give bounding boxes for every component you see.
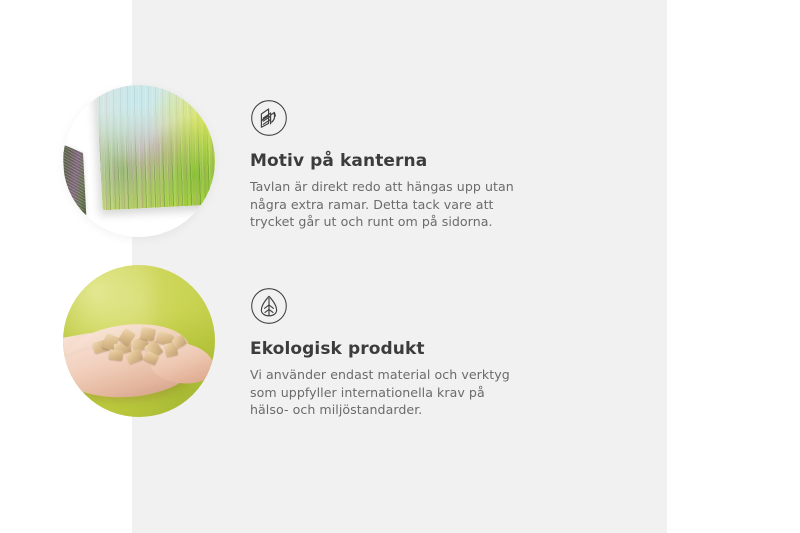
wood-chips: [89, 325, 189, 369]
hands-image: [63, 323, 215, 401]
canvas-edge-texture: [63, 144, 86, 215]
feature-description: Tavlan är direkt redo att hängas upp uta…: [250, 178, 518, 230]
canvas-print-corner-photo: [63, 85, 215, 237]
canvas-edge-print-icon: [250, 99, 288, 137]
feature-text-block: Ekologisk produkt Vi använder endast mat…: [250, 265, 518, 419]
photo-circle-backdrop: [63, 265, 215, 417]
promo-banner: Motiv på kanterna Tavlan är direkt redo …: [0, 0, 800, 533]
canvas-artwork-drips: [99, 125, 215, 211]
feature-text-block: Motiv på kanterna Tavlan är direkt redo …: [250, 85, 518, 231]
hands-holding-wood-chips-photo: [63, 265, 215, 417]
feature-title: Ekologisk produkt: [250, 339, 518, 359]
canvas-block: [96, 85, 215, 210]
feature-title: Motiv på kanterna: [250, 151, 518, 171]
photo-circle-backdrop: [63, 85, 215, 237]
leaf-icon: [250, 287, 288, 325]
feature-description: Vi använder endast material och verktyg …: [250, 366, 518, 418]
feature-edge-print: Motiv på kanterna Tavlan är direkt redo …: [63, 85, 518, 237]
feature-eco-product: Ekologisk produkt Vi använder endast mat…: [63, 265, 518, 419]
canvas-wrapped-edge: [63, 144, 86, 215]
canvas-print-image: [63, 85, 215, 237]
